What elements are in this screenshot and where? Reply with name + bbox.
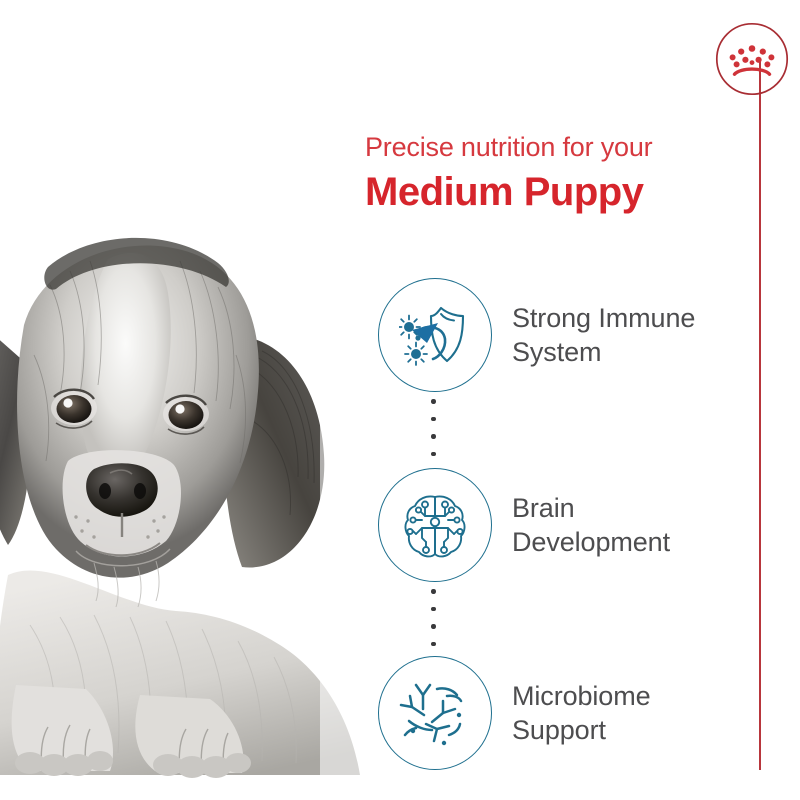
puppy-photo [0, 215, 370, 800]
connector-dot [431, 589, 436, 594]
benefit-item-microbiome: Microbiome Support [378, 655, 738, 771]
connector-dot [431, 624, 436, 629]
microbiome-bacteria-icon [378, 656, 492, 770]
connector-dot [431, 642, 436, 647]
promo-page: Precise nutrition for your Medium Puppy [0, 0, 800, 800]
page-title: Medium Puppy [365, 166, 765, 218]
benefit-label-brain: Brain Development [512, 491, 738, 559]
benefit-item-immune: Strong Immune System [378, 277, 738, 393]
connector-dot [431, 452, 436, 457]
shield-immune-icon [378, 278, 492, 392]
benefit-label-immune: Strong Immune System [512, 301, 738, 369]
benefit-item-brain: Brain Development [378, 467, 738, 583]
benefit-label-microbiome: Microbiome Support [512, 679, 738, 747]
connector-dot [431, 417, 436, 422]
brain-circuit-icon [378, 468, 492, 582]
headline-block: Precise nutrition for your Medium Puppy [365, 130, 765, 218]
headline-subtitle: Precise nutrition for your [365, 130, 765, 164]
connector-dot [431, 434, 436, 439]
connector-dot [431, 607, 436, 612]
connector-dot [431, 399, 436, 404]
royal-canin-crown-icon [715, 22, 789, 96]
